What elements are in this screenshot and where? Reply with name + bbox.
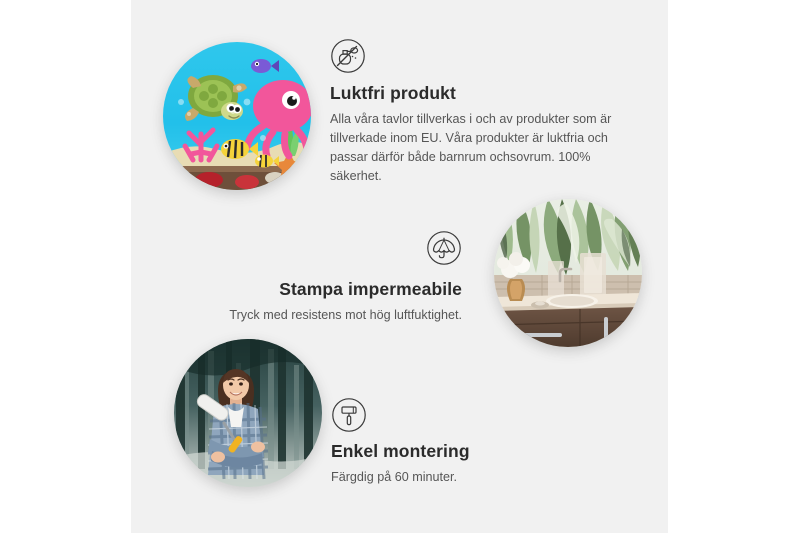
feature-odourless-description: Alla våra tavlor tillverkas i och av pro… — [330, 110, 618, 187]
feature-waterproof-title: Stampa impermeabile — [180, 279, 462, 301]
photo-aquarium — [163, 42, 311, 190]
feature-assembly-description: Färgdig på 60 minuter. — [331, 468, 611, 487]
feature-assembly: Enkel montering Färgdig på 60 minuter. — [331, 397, 611, 487]
paint-roller-icon — [331, 397, 367, 433]
photo-installer — [174, 339, 322, 487]
photo-bathroom — [494, 199, 642, 347]
feature-odourless: Luktfri produkt Alla våra tavlor tillver… — [330, 38, 618, 186]
umbrella-icon — [426, 230, 462, 266]
underwater-cartoon-mural-art — [163, 42, 311, 190]
paint-roller-icon-wrap — [331, 397, 611, 433]
feature-waterproof-description: Tryck med resistens mot hög luftfuktighe… — [180, 306, 462, 325]
woman-with-paint-roller-art — [174, 339, 322, 487]
no-fragrance-icon-wrap — [330, 38, 618, 74]
bathroom-tropical-wallpaper-art — [494, 199, 642, 347]
feature-waterproof: Stampa impermeabile Tryck med resistens … — [180, 230, 462, 325]
no-fragrance-icon — [330, 38, 366, 74]
umbrella-icon-wrap — [180, 230, 462, 271]
feature-banner: Luktfri produkt Alla våra tavlor tillver… — [0, 0, 800, 533]
feature-odourless-title: Luktfri produkt — [330, 83, 618, 105]
feature-assembly-title: Enkel montering — [331, 441, 611, 463]
